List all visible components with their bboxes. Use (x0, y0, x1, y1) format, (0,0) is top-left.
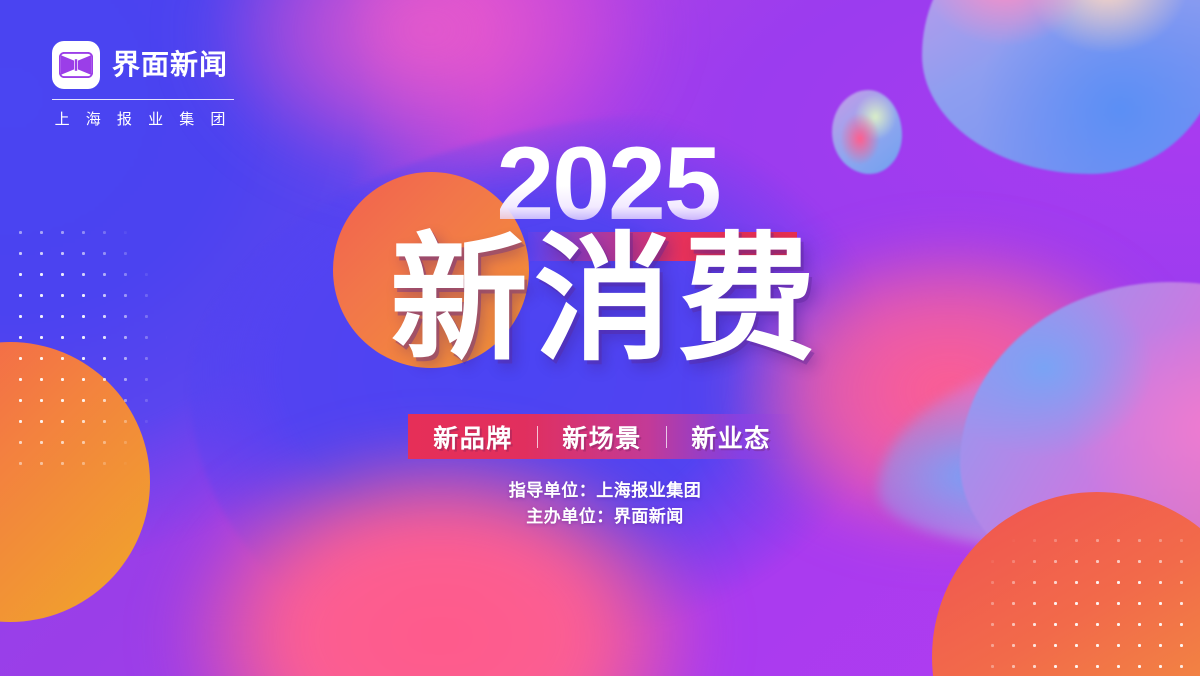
dot-grid-bottom-right (982, 530, 1200, 676)
orange-circle-center (333, 172, 529, 368)
logo-wordmark: 界面新闻 (112, 51, 228, 79)
logo-parent-org: 上 海 报 业 集 团 (52, 108, 234, 129)
logo-divider (52, 99, 234, 100)
jiemian-butterfly-icon (52, 41, 100, 89)
dot-grid-left (10, 222, 180, 472)
organic-blob-small-right (832, 90, 902, 174)
event-poster: 界面新闻 上 海 报 业 集 团 2025 新消费 新品牌 | 新场景 | 新业… (0, 0, 1200, 676)
logo-row: 界面新闻 (52, 38, 242, 92)
brand-logo: 界面新闻 上 海 报 业 集 团 (52, 38, 242, 129)
